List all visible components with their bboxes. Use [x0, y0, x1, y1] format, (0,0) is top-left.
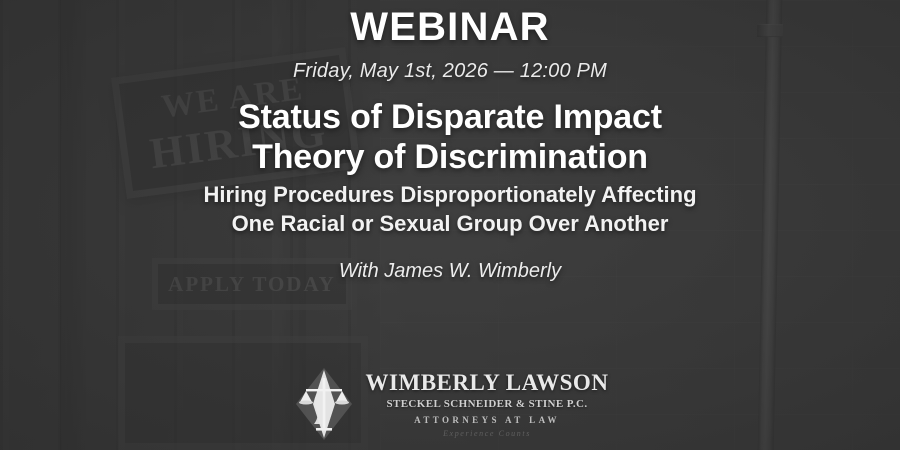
firm-practice-area: ATTORNEYS AT LAW	[414, 416, 560, 425]
webinar-speaker: With James W. Wimberly	[339, 260, 561, 283]
webinar-subtitle: Hiring Procedures Disproportionately Aff…	[203, 181, 696, 238]
firm-partners: STECKEL SCHNEIDER & STINE P.C.	[386, 399, 587, 410]
firm-logo-text: WIMBERLY LAWSON STECKEL SCHNEIDER & STIN…	[366, 371, 609, 438]
scales-of-justice-icon	[292, 366, 356, 442]
firm-logo: WIMBERLY LAWSON STECKEL SCHNEIDER & STIN…	[0, 366, 900, 442]
title-line-2: Theory of Discrimination	[238, 137, 662, 177]
webinar-datetime: Friday, May 1st, 2026 — 12:00 PM	[293, 60, 607, 83]
subtitle-line-2: One Racial or Sexual Group Over Another	[203, 210, 696, 239]
firm-tagline: Experience Counts	[443, 430, 531, 438]
subtitle-line-1: Hiring Procedures Disproportionately Aff…	[203, 181, 696, 210]
title-line-1: Status of Disparate Impact	[238, 97, 662, 137]
webinar-title: Status of Disparate Impact Theory of Dis…	[238, 97, 662, 177]
webinar-kicker: WEBINAR	[350, 6, 550, 48]
firm-name: WIMBERLY LAWSON	[366, 371, 609, 394]
webinar-banner: WE ARE HIRING APPLY TODAY WEBINAR Friday…	[0, 0, 900, 450]
